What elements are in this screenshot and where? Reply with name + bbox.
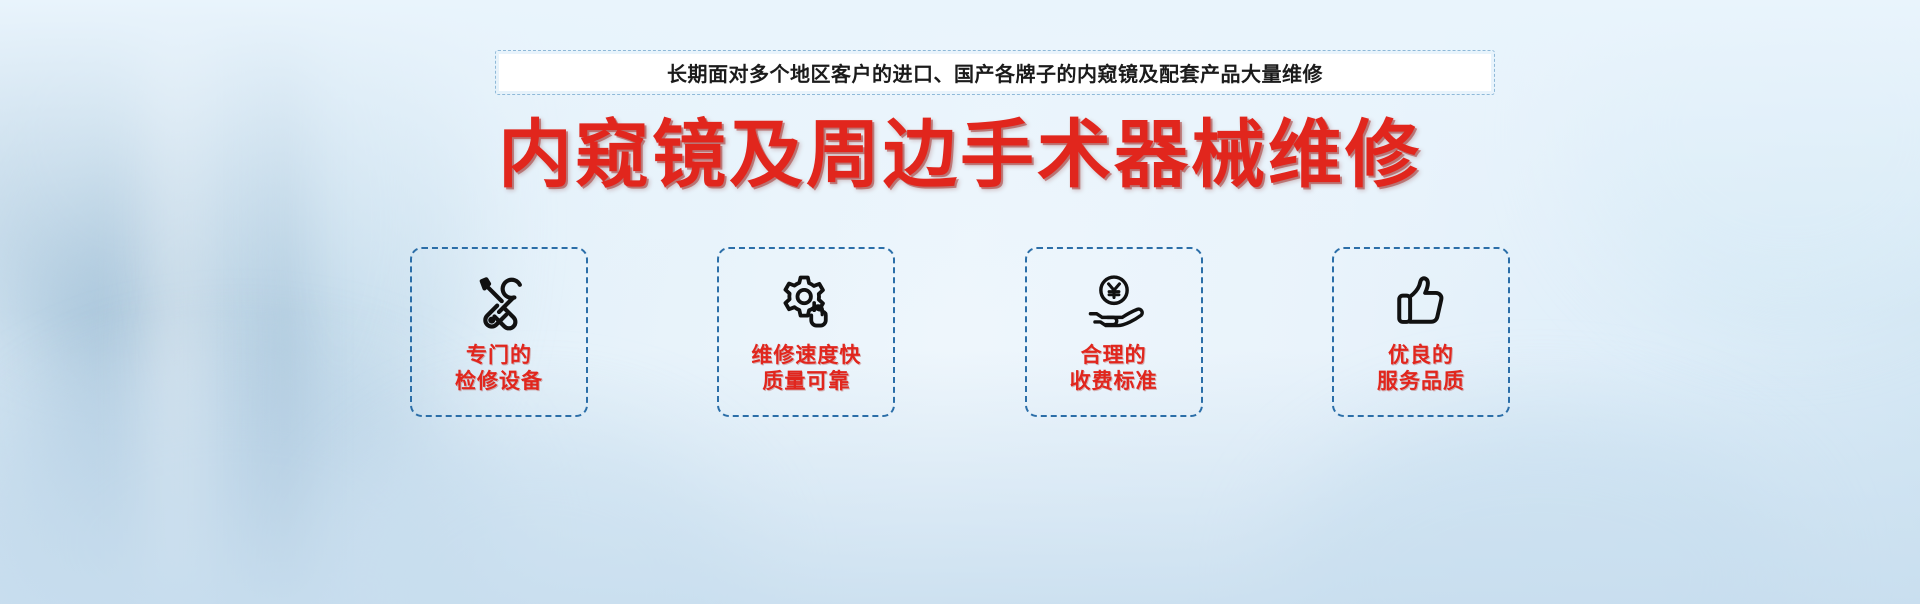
feature-card-label: 合理的 收费标准 [1070,343,1158,396]
feature-card-line1: 优良的 [1377,343,1465,369]
feature-card-line2: 检修设备 [455,369,543,395]
banner-content: 长期面对多个地区客户的进口、国产各牌子的内窥镜及配套产品大量维修 内窥镜及周边手… [0,0,1920,604]
tagline-text: 长期面对多个地区客户的进口、国产各牌子的内窥镜及配套产品大量维修 [667,58,1323,87]
feature-card-line2: 质量可靠 [751,369,861,395]
feature-card-line1: 合理的 [1070,343,1158,369]
tagline-box: 长期面对多个地区客户的进口、国产各牌子的内窥镜及配套产品大量维修 [495,50,1495,95]
feature-card-label: 专门的 检修设备 [455,343,543,396]
screwdriver-wrench-icon [464,271,534,333]
gear-cursor-icon [771,271,841,333]
feature-card-equipment[interactable]: 专门的 检修设备 [410,247,588,417]
feature-card-line2: 收费标准 [1070,369,1158,395]
feature-card-label: 优良的 服务品质 [1377,343,1465,396]
feature-card-pricing[interactable]: 合理的 收费标准 [1025,247,1203,417]
thumbs-up-icon [1386,271,1456,333]
feature-card-service[interactable]: 优良的 服务品质 [1332,247,1510,417]
feature-card-line1: 维修速度快 [751,343,861,369]
feature-card-speed[interactable]: 维修速度快 质量可靠 [717,247,895,417]
feature-card-line1: 专门的 [455,343,543,369]
tagline-inner: 长期面对多个地区客户的进口、国产各牌子的内窥镜及配套产品大量维修 [499,54,1491,91]
feature-card-line2: 服务品质 [1377,369,1465,395]
feature-card-list: 专门的 检修设备 维修速度快 质量可靠 [410,247,1510,417]
feature-card-label: 维修速度快 质量可靠 [751,343,861,396]
page-title: 内窥镜及周边手术器械维修 [0,118,1920,192]
hand-holding-yen-icon [1079,271,1149,333]
